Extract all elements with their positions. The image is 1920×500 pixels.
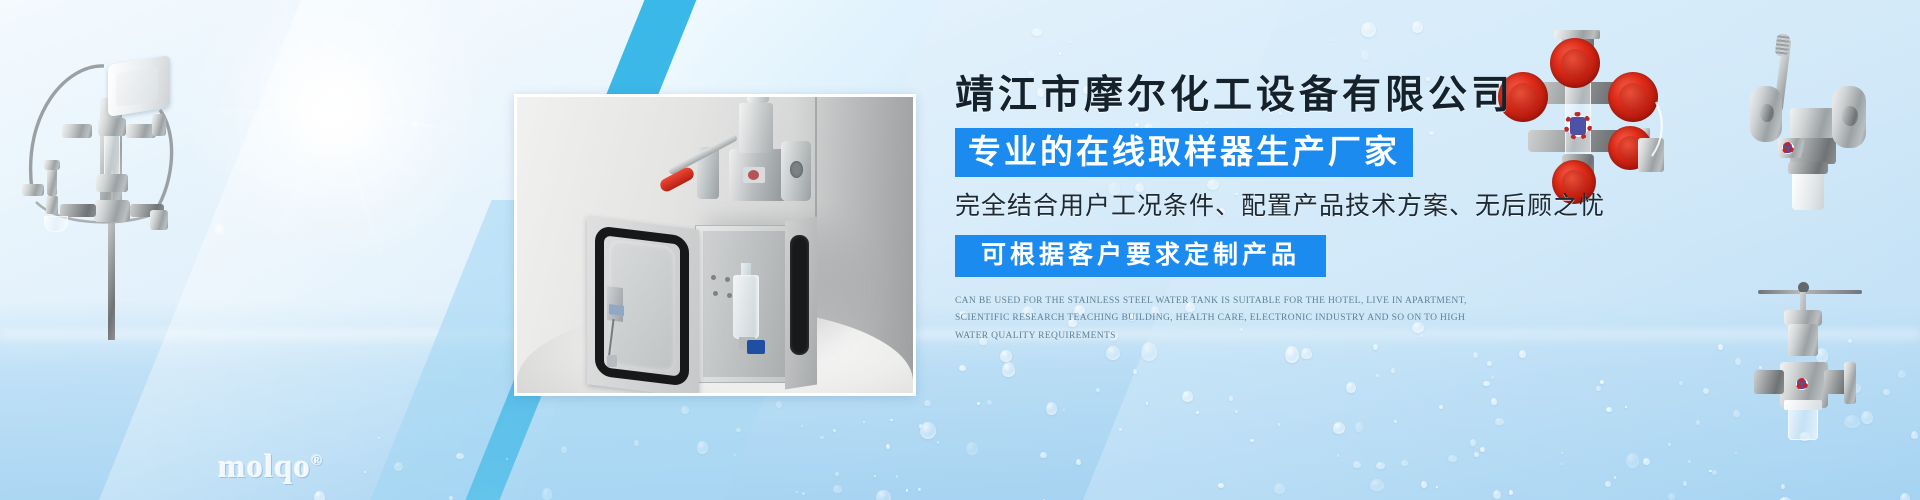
brand-seal-icon	[1792, 374, 1812, 394]
right-needle-valve	[1760, 270, 1920, 450]
headline-badge: 专业的在线取样器生产厂家	[955, 128, 1413, 177]
water-droplet	[1059, 52, 1061, 55]
cabinet-side-gasket	[790, 235, 809, 355]
cabinet-key	[607, 355, 617, 367]
watermark-registered-icon: ®	[311, 453, 323, 469]
promo-banner: 靖江市摩尔化工设备有限公司 专业的在线取样器生产厂家 完全结合用户工况条件、配置…	[0, 0, 1920, 500]
product-photo	[514, 94, 916, 396]
lens-glint	[212, 222, 226, 236]
valve-right-flange	[781, 141, 811, 201]
tubing-arcs-icon	[0, 20, 200, 320]
valve-bonnet-stack	[739, 103, 773, 153]
banner-copy: 靖江市摩尔化工设备有限公司 专业的在线取样器生产厂家 完全结合用户工况条件、配置…	[955, 74, 1735, 346]
valve-brand-tag	[743, 167, 765, 183]
english-blurb: CAN BE USED FOR THE STAINLESS STEEL WATE…	[955, 293, 1475, 346]
brand-seal-icon	[1778, 138, 1798, 158]
left-product-assembly	[0, 20, 200, 320]
tagline-badge: 可根据客户要求定制产品	[955, 235, 1326, 277]
water-droplet	[1032, 28, 1042, 36]
right-lever-valve	[1740, 30, 1920, 230]
cabinet-mount-holes	[711, 275, 737, 299]
lens-glint	[410, 120, 419, 129]
valve-top-knob	[747, 94, 769, 103]
sub-headline: 完全结合用户工况条件、配置产品技术方案、无后顾之忧	[955, 191, 1735, 221]
cabinet-latch-tag	[609, 304, 624, 316]
blue-cap	[747, 340, 765, 354]
company-name: 靖江市摩尔化工设备有限公司	[955, 74, 1735, 118]
watermark-text: molqo	[218, 449, 311, 485]
valve-stem	[755, 94, 761, 95]
watermark: molqo®	[218, 449, 323, 486]
water-droplet	[1069, 41, 1071, 43]
